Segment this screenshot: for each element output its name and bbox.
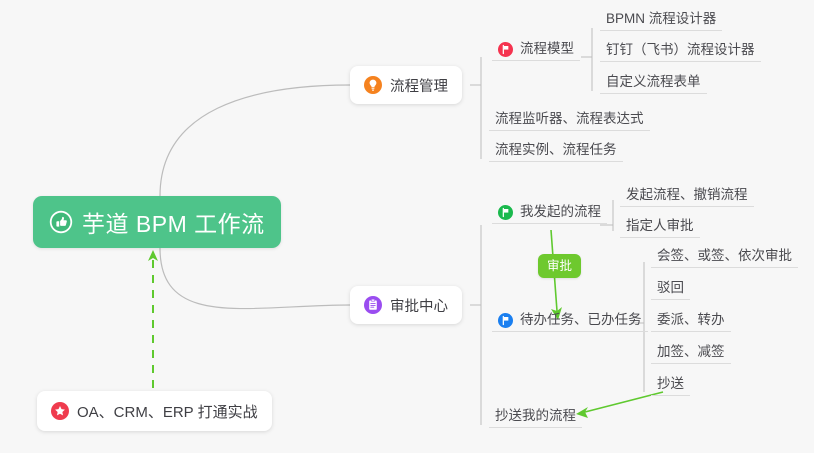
node-assign-approver-label: 指定人审批 — [626, 217, 694, 234]
node-instance-task[interactable]: 流程实例、流程任务 — [489, 141, 623, 162]
node-wo-faqi-de-liucheng-label: 我发起的流程 — [520, 203, 601, 220]
node-dingtalk-feishu-designer[interactable]: 钉钉（飞书）流程设计器 — [600, 41, 761, 62]
node-assign-approver[interactable]: 指定人审批 — [620, 217, 700, 238]
shenpi-annotation-badge-label: 审批 — [547, 259, 572, 273]
node-add-remove-sign-label: 加签、减签 — [657, 343, 725, 360]
root-label: 芋道 BPM 工作流 — [82, 205, 265, 239]
shenpi-annotation-badge[interactable]: 审批 — [538, 254, 581, 278]
node-oa-crm-erp[interactable]: OA、CRM、ERP 打通实战 — [37, 391, 272, 431]
node-countersign[interactable]: 会签、或签、依次审批 — [651, 247, 798, 268]
root-node[interactable]: 芋道 BPM 工作流 — [33, 196, 281, 248]
mindmap-canvas[interactable]: 芋道 BPM 工作流 流程管理 流程模型 BPMN 流程设计器 钉钉（飞书 — [0, 0, 814, 453]
arrow-cc-to-chaosong — [576, 392, 663, 418]
node-custom-process-form[interactable]: 自定义流程表单 — [600, 73, 707, 94]
node-shenpi-zhongxin[interactable]: 审批中心 — [350, 286, 462, 324]
node-reject-label: 驳回 — [657, 279, 684, 296]
node-chaosong-wode-liucheng[interactable]: 抄送我的流程 — [489, 407, 582, 428]
node-liucheng-guanli[interactable]: 流程管理 — [350, 66, 462, 104]
node-delegate-transfer[interactable]: 委派、转办 — [651, 311, 731, 332]
node-custom-process-form-label: 自定义流程表单 — [606, 73, 701, 90]
lightbulb-pin-icon — [364, 76, 382, 94]
node-start-cancel-process[interactable]: 发起流程、撤销流程 — [620, 186, 754, 207]
node-cc[interactable]: 抄送 — [651, 375, 690, 396]
node-oa-crm-erp-label: OA、CRM、ERP 打通实战 — [77, 401, 258, 422]
node-dingtalk-feishu-designer-label: 钉钉（飞书）流程设计器 — [606, 41, 755, 58]
link-root-to-shenpi-zhongxin — [160, 248, 350, 309]
node-liucheng-guanli-label: 流程管理 — [390, 75, 448, 96]
node-wo-faqi-de-liucheng[interactable]: 我发起的流程 — [492, 203, 607, 224]
node-listener-expression[interactable]: 流程监听器、流程表达式 — [489, 110, 650, 131]
thumbs-up-icon — [49, 210, 73, 234]
node-add-remove-sign[interactable]: 加签、减签 — [651, 343, 731, 364]
node-daiban-yiban-renwu-label: 待办任务、已办任务 — [520, 311, 642, 328]
node-liucheng-moxing-label: 流程模型 — [520, 40, 574, 57]
node-listener-expression-label: 流程监听器、流程表达式 — [495, 110, 644, 127]
node-shenpi-zhongxin-label: 审批中心 — [390, 295, 448, 316]
star-icon — [51, 402, 69, 420]
arrow-oa-to-root — [148, 250, 158, 388]
node-bpmn-designer[interactable]: BPMN 流程设计器 — [600, 10, 722, 31]
flag-icon — [498, 42, 513, 57]
node-cc-label: 抄送 — [657, 375, 684, 392]
clipboard-icon — [364, 296, 382, 314]
link-root-to-liucheng-guanli — [160, 85, 350, 196]
node-daiban-yiban-renwu[interactable]: 待办任务、已办任务 — [492, 311, 648, 332]
node-instance-task-label: 流程实例、流程任务 — [495, 141, 617, 158]
node-countersign-label: 会签、或签、依次审批 — [657, 247, 792, 264]
node-reject[interactable]: 驳回 — [651, 279, 690, 300]
node-start-cancel-process-label: 发起流程、撤销流程 — [626, 186, 748, 203]
node-liucheng-moxing[interactable]: 流程模型 — [492, 40, 580, 61]
flag-icon — [498, 313, 513, 328]
node-delegate-transfer-label: 委派、转办 — [657, 311, 725, 328]
node-bpmn-designer-label: BPMN 流程设计器 — [606, 10, 716, 27]
flag-icon — [498, 205, 513, 220]
node-chaosong-wode-liucheng-label: 抄送我的流程 — [495, 407, 576, 424]
